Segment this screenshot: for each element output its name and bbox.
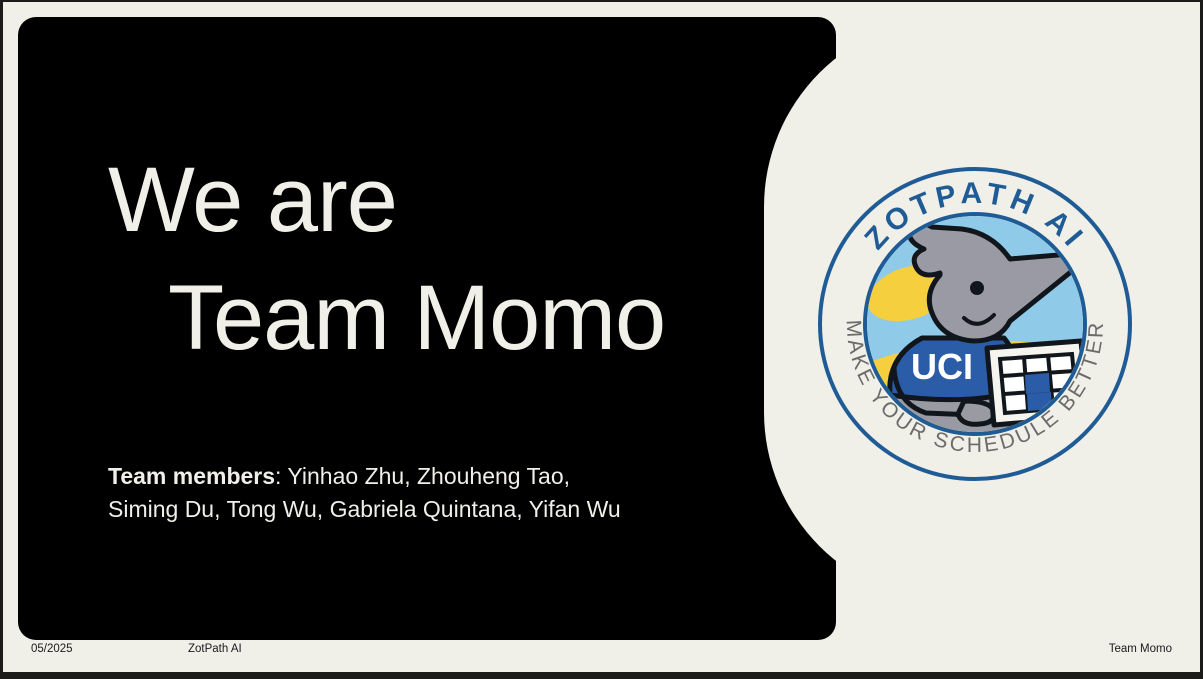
page-title: We are Team Momo: [108, 142, 768, 378]
team-members-label: Team members: [108, 463, 275, 489]
mascot-hand-left: [958, 401, 994, 424]
title-line-2: Team Momo: [108, 260, 768, 378]
shirt-text: UCI: [911, 346, 973, 387]
zotpath-ai-logo: UCI: [814, 163, 1136, 485]
team-members-text: Team members: Yinhao Zhu, Zhouheng Tao, …: [108, 460, 728, 525]
title-line-1: We are: [108, 142, 768, 260]
team-members-line-1: Yinhao Zhu, Zhouheng Tao,: [287, 463, 570, 489]
footer-date: 05/2025: [31, 643, 73, 655]
mascot-eye: [970, 281, 984, 295]
slide-footer: 05/2025 ZotPath AI Team Momo: [3, 636, 1200, 666]
footer-brand: ZotPath AI: [188, 643, 242, 655]
footer-team: Team Momo: [1109, 643, 1172, 655]
team-members-line-2: Siming Du, Tong Wu, Gabriela Quintana, Y…: [108, 496, 621, 522]
presentation-slide: We are Team Momo Team members: Yinhao Zh…: [0, 0, 1203, 679]
team-members-separator: :: [275, 463, 287, 489]
